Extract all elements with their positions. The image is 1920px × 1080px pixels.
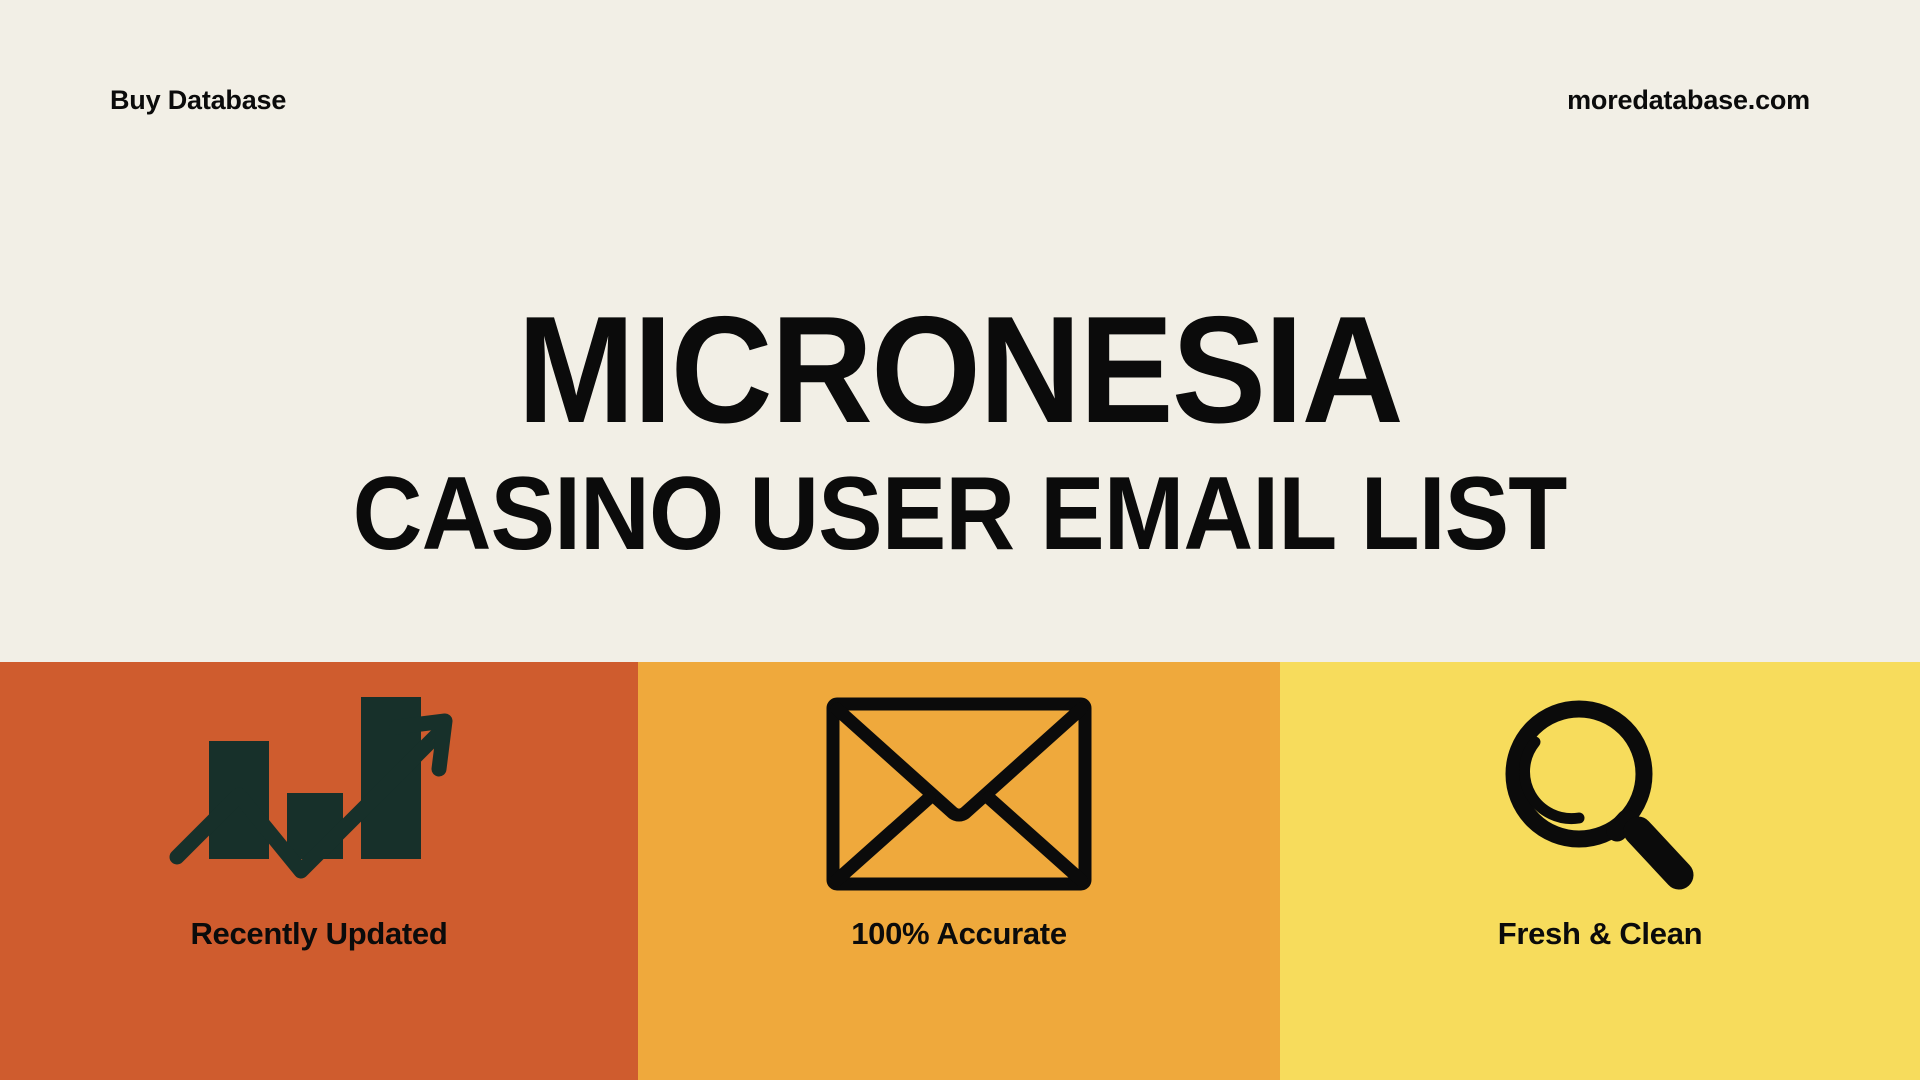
feature-panel-fresh-clean: Fresh & Clean [1280, 662, 1920, 1080]
magnifier-icon [1495, 686, 1705, 902]
feature-panel-accurate: 100% Accurate [638, 662, 1280, 1080]
website-url: moredatabase.com [1567, 85, 1810, 116]
poster-canvas: Buy Database moredatabase.com MICRONESIA… [0, 0, 1920, 1080]
feature-label: 100% Accurate [851, 916, 1067, 952]
page-title: MICRONESIA [518, 296, 1403, 445]
feature-panel-recently-updated: Recently Updated [0, 662, 638, 1080]
feature-label: Recently Updated [190, 916, 447, 952]
feature-label: Fresh & Clean [1498, 916, 1703, 952]
page-subtitle: CASINO USER EMAIL LIST [353, 462, 1567, 566]
header-bar: Buy Database moredatabase.com [0, 0, 1920, 200]
brand-name: Buy Database [110, 85, 286, 116]
hero-section: MICRONESIA CASINO USER EMAIL LIST [0, 200, 1920, 662]
feature-panels: Recently Updated 100% Accurate [0, 662, 1920, 1080]
bar-chart-growth-icon [169, 686, 469, 902]
envelope-icon [825, 686, 1093, 902]
